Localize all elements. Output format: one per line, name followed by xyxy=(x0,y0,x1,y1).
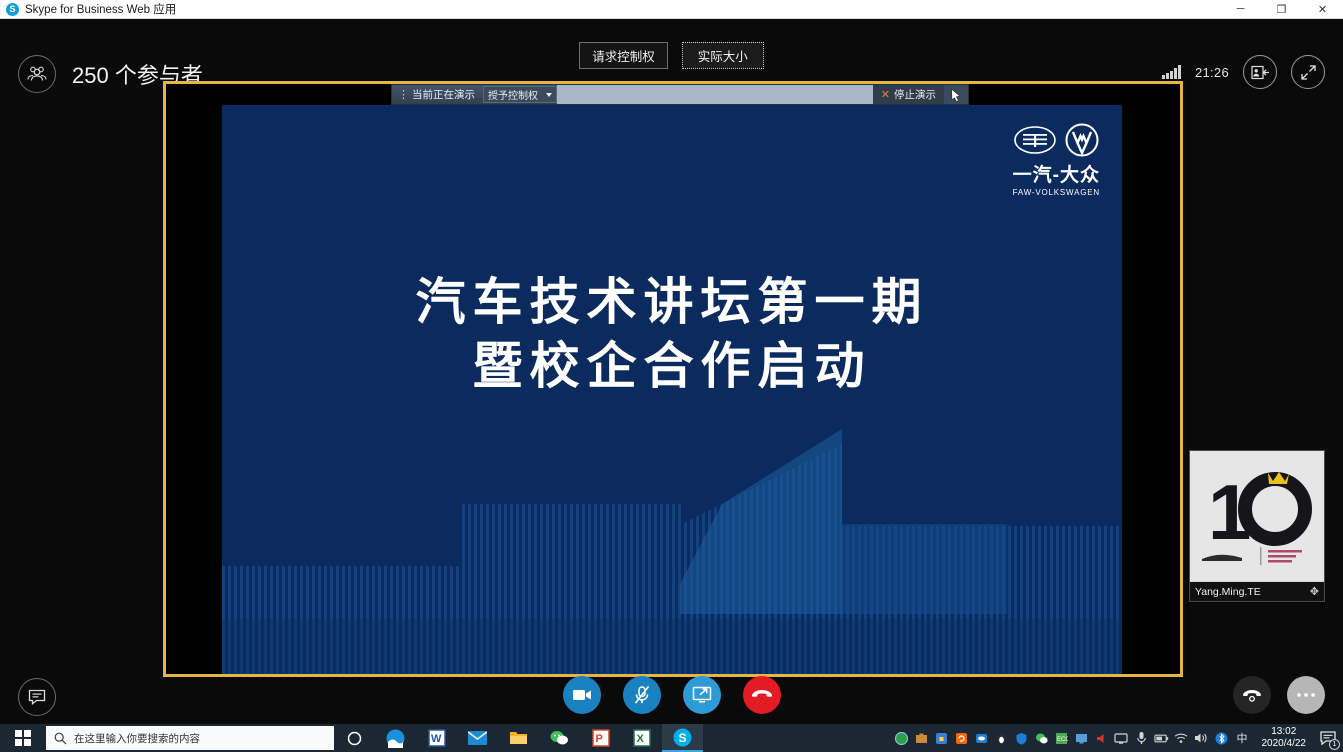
volume-red-icon[interactable] xyxy=(1094,731,1109,746)
skype-icon[interactable]: S xyxy=(662,724,703,752)
volkswagen-logo-icon xyxy=(1065,123,1099,157)
notification-icon[interactable]: 1 xyxy=(1317,727,1339,749)
shield-icon[interactable] xyxy=(1014,731,1029,746)
svg-text:S: S xyxy=(679,731,687,745)
call-action-buttons xyxy=(0,676,1343,714)
excel-icon[interactable]: X xyxy=(621,724,662,752)
more-options-icon xyxy=(1295,692,1317,698)
svg-text:X: X xyxy=(636,733,644,745)
updater-icon[interactable] xyxy=(954,731,969,746)
word-icon[interactable]: W xyxy=(416,724,457,752)
stop-presenting-button[interactable]: ✕ 停止演示 xyxy=(873,85,944,104)
skype-meeting-window: 250 个参与者 请求控制权 实际大小 21:26 xyxy=(0,19,1343,724)
penguin-icon[interactable] xyxy=(994,731,1009,746)
cortana-icon[interactable] xyxy=(334,724,375,752)
pointer-cursor-icon[interactable] xyxy=(944,85,968,104)
header-status-area: 21:26 xyxy=(1162,55,1325,89)
wechat-tray-icon[interactable] xyxy=(1034,731,1049,746)
close-x-icon: ✕ xyxy=(881,88,890,101)
slide-decoration-bars xyxy=(222,414,1122,674)
bluetooth-icon[interactable] xyxy=(1214,731,1229,746)
microphone-tray-icon[interactable] xyxy=(1134,731,1149,746)
chevron-down-icon xyxy=(546,93,552,97)
more-options-button[interactable] xyxy=(1287,676,1325,714)
speaker-icon[interactable] xyxy=(1194,731,1209,746)
display-icon[interactable] xyxy=(1114,731,1129,746)
toolbar-spacer xyxy=(557,85,873,104)
secondary-call-buttons xyxy=(1233,676,1325,714)
search-icon xyxy=(54,732,67,745)
clock-date: 2020/4/22 xyxy=(1262,738,1307,750)
thumbnail-participant-name: Yang.Ming.TE xyxy=(1195,586,1261,598)
mail-icon[interactable] xyxy=(457,724,498,752)
request-control-button[interactable]: 请求控制权 xyxy=(579,42,668,69)
monitor-icon[interactable] xyxy=(1074,731,1089,746)
slide-title-line1: 汽车技术讲坛第一期 xyxy=(222,270,1122,334)
call-control-bar xyxy=(0,672,1343,724)
restore-button[interactable]: ❐ xyxy=(1261,0,1302,19)
window-controls: ─ ❐ ✕ xyxy=(1220,0,1343,19)
grant-control-label: 授予控制权 xyxy=(488,87,538,102)
video-button[interactable] xyxy=(563,676,601,714)
thumbnail-name-bar: Yang.Ming.TE ✥ xyxy=(1190,582,1324,601)
faw-logo-icon xyxy=(1013,125,1057,155)
globe-icon[interactable] xyxy=(894,731,909,746)
wechat-icon[interactable] xyxy=(539,724,580,752)
fullscreen-expand-icon[interactable] xyxy=(1291,55,1325,89)
file-explorer-icon[interactable] xyxy=(498,724,539,752)
taskbar-search-placeholder: 在这里输入你要搜索的内容 xyxy=(74,731,200,746)
presentation-slide: 一汽-大众 FAW-VOLKSWAGEN 汽车技术讲坛第一期 暨校企合作启动 xyxy=(222,105,1122,674)
slide-title-line2: 暨校企合作启动 xyxy=(222,334,1122,398)
system-tray: ECO 中 13:02 2020/4/22 1 xyxy=(894,724,1343,752)
eco-icon[interactable]: ECO xyxy=(1054,731,1069,746)
dialpad-button[interactable] xyxy=(1233,676,1271,714)
add-participant-icon[interactable] xyxy=(1243,55,1277,89)
presenting-status-label: 当前正在演示 xyxy=(412,87,483,102)
windows-taskbar: 在这里输入你要搜索的内容 W P X S xyxy=(0,724,1343,752)
move-handle-icon[interactable]: ✥ xyxy=(1310,585,1319,598)
notification-count: 1 xyxy=(1329,739,1340,750)
minimize-button[interactable]: ─ xyxy=(1220,0,1261,19)
signal-strength-icon xyxy=(1162,65,1181,79)
participant-video-thumbnail[interactable]: 1 Yang.Ming.TE ✥ xyxy=(1189,450,1325,602)
hangup-button[interactable] xyxy=(743,676,781,714)
powerpoint-icon[interactable]: P xyxy=(580,724,621,752)
call-timer: 21:26 xyxy=(1195,65,1229,80)
share-screen-button[interactable] xyxy=(683,676,721,714)
svg-text:W: W xyxy=(431,733,442,745)
briefcase-icon[interactable] xyxy=(914,731,929,746)
qq-browser-icon[interactable] xyxy=(375,724,416,752)
meeting-header: 250 个参与者 请求控制权 实际大小 21:26 xyxy=(0,19,1343,81)
ime-indicator[interactable]: 中 xyxy=(1234,730,1251,746)
clock-time: 13:02 xyxy=(1262,726,1307,738)
dialpad-phone-icon xyxy=(1241,687,1263,703)
actual-size-button[interactable]: 实际大小 xyxy=(682,42,764,69)
windows-start-icon[interactable] xyxy=(0,724,46,752)
window-titlebar: S Skype for Business Web 应用 ─ ❐ ✕ xyxy=(0,0,1343,19)
stop-presenting-label: 停止演示 xyxy=(894,87,936,102)
share-action-buttons: 请求控制权 实际大小 xyxy=(0,42,1343,69)
logo-chinese-text: 一汽-大众 xyxy=(1013,160,1100,187)
drag-grip-icon[interactable]: ⋮ xyxy=(392,88,412,101)
skype-icon: S xyxy=(6,3,19,16)
battery-icon[interactable] xyxy=(1154,731,1169,746)
mute-button[interactable] xyxy=(623,676,661,714)
presenter-toolbar: ⋮ 当前正在演示 授予控制权 ✕ 停止演示 xyxy=(391,84,969,105)
close-button[interactable]: ✕ xyxy=(1302,0,1343,19)
taskbar-app-list: W P X S xyxy=(334,724,703,752)
wifi-icon[interactable] xyxy=(1174,731,1189,746)
network-drive-icon[interactable] xyxy=(974,731,989,746)
svg-text:ECO: ECO xyxy=(1057,737,1068,743)
thumbnail-image: 1 xyxy=(1190,451,1324,581)
taskbar-clock[interactable]: 13:02 2020/4/22 xyxy=(1256,726,1313,750)
grant-control-select[interactable]: 授予控制权 xyxy=(483,86,557,103)
slide-title: 汽车技术讲坛第一期 暨校企合作启动 xyxy=(222,270,1122,398)
window-title: Skype for Business Web 应用 xyxy=(25,1,176,17)
taskbar-search-box[interactable]: 在这里输入你要搜索的内容 xyxy=(46,726,334,750)
faw-volkswagen-logo: 一汽-大众 FAW-VOLKSWAGEN xyxy=(1013,123,1100,197)
shared-content-stage: ⋮ 当前正在演示 授予控制权 ✕ 停止演示 xyxy=(163,81,1183,677)
security-icon[interactable] xyxy=(934,731,949,746)
svg-text:P: P xyxy=(595,733,602,745)
logo-english-text: FAW-VOLKSWAGEN xyxy=(1013,188,1100,197)
